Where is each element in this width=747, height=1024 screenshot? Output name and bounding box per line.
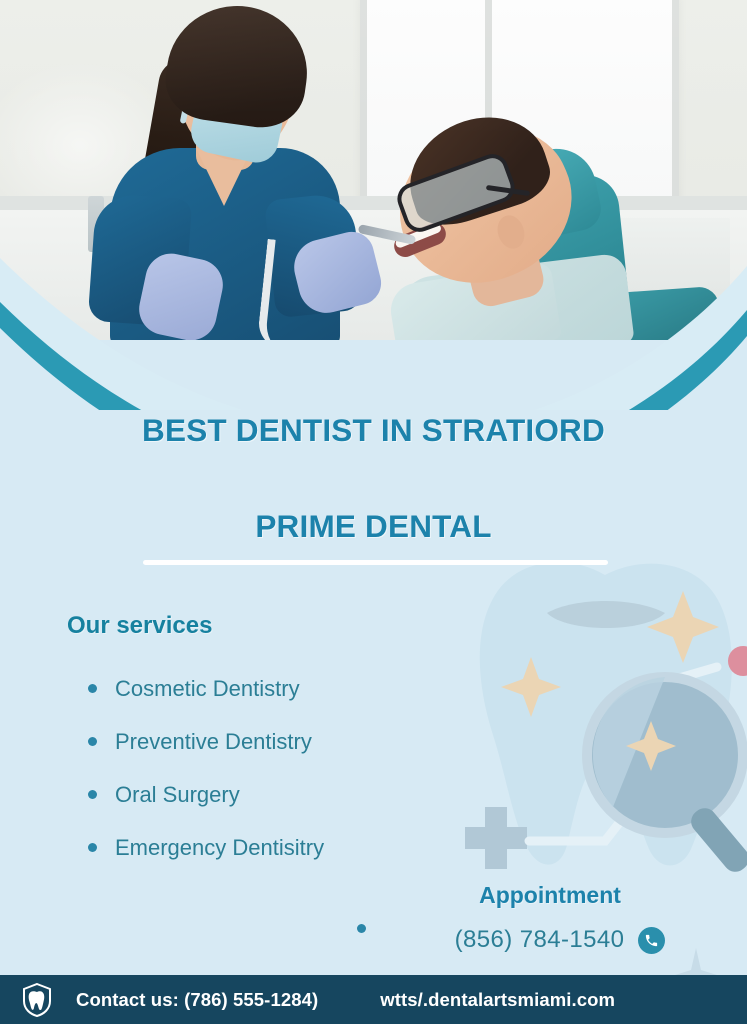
sparkle-icon <box>626 721 676 771</box>
bullet-icon <box>88 843 97 852</box>
clinic-name: PRIME DENTAL <box>0 508 747 545</box>
services-list: Cosmetic Dentistry Preventive Dentistry … <box>88 662 324 874</box>
magnifying-glass-icon <box>587 677 747 877</box>
appointment-phone-row: (856) 784-1540 <box>420 926 700 954</box>
phone-icon[interactable] <box>638 927 665 954</box>
tooth-shape <box>480 562 732 865</box>
service-label: Preventive Dentistry <box>115 729 312 755</box>
connector-tube-lower <box>529 795 641 841</box>
service-label: Emergency Dentisitry <box>115 835 324 861</box>
list-item: Oral Surgery <box>88 768 324 821</box>
list-item: Emergency Dentisitry <box>88 821 324 874</box>
bullet-icon-orphan <box>357 924 366 933</box>
title-divider <box>143 560 608 565</box>
footer-contact-text[interactable]: Contact us: (786) 555-1284) <box>76 989 318 1011</box>
footer-website-link[interactable]: wtts/.dentalartsmiami.com <box>380 989 615 1011</box>
page-title: BEST DENTIST IN STRATIORD <box>0 412 747 449</box>
sparkle-icon <box>501 657 561 717</box>
medical-cross-icon <box>465 807 527 869</box>
appointment-phone-number[interactable]: (856) 784-1540 <box>455 926 625 954</box>
service-label: Oral Surgery <box>115 782 240 808</box>
appointment-heading: Appointment <box>420 882 680 909</box>
tooth-illustration <box>455 555 747 885</box>
red-dot-accent <box>728 646 747 676</box>
bullet-icon <box>88 684 97 693</box>
list-item: Preventive Dentistry <box>88 715 324 768</box>
shield-tooth-icon <box>22 983 52 1017</box>
services-heading: Our services <box>67 612 212 640</box>
hero-photo <box>0 0 747 340</box>
sparkle-icon <box>647 591 719 663</box>
footer-bar: Contact us: (786) 555-1284) wtts/.dental… <box>0 975 747 1024</box>
bullet-icon <box>88 737 97 746</box>
list-item: Cosmetic Dentistry <box>88 662 324 715</box>
bullet-icon <box>88 790 97 799</box>
dental-flyer: BEST DENTIST IN STRATIORD PRIME DENTAL O… <box>0 0 747 1024</box>
service-label: Cosmetic Dentistry <box>115 676 300 702</box>
tooth-shade <box>547 601 665 628</box>
connector-tube-upper <box>669 667 717 681</box>
flyer-body: BEST DENTIST IN STRATIORD PRIME DENTAL O… <box>0 340 747 1024</box>
